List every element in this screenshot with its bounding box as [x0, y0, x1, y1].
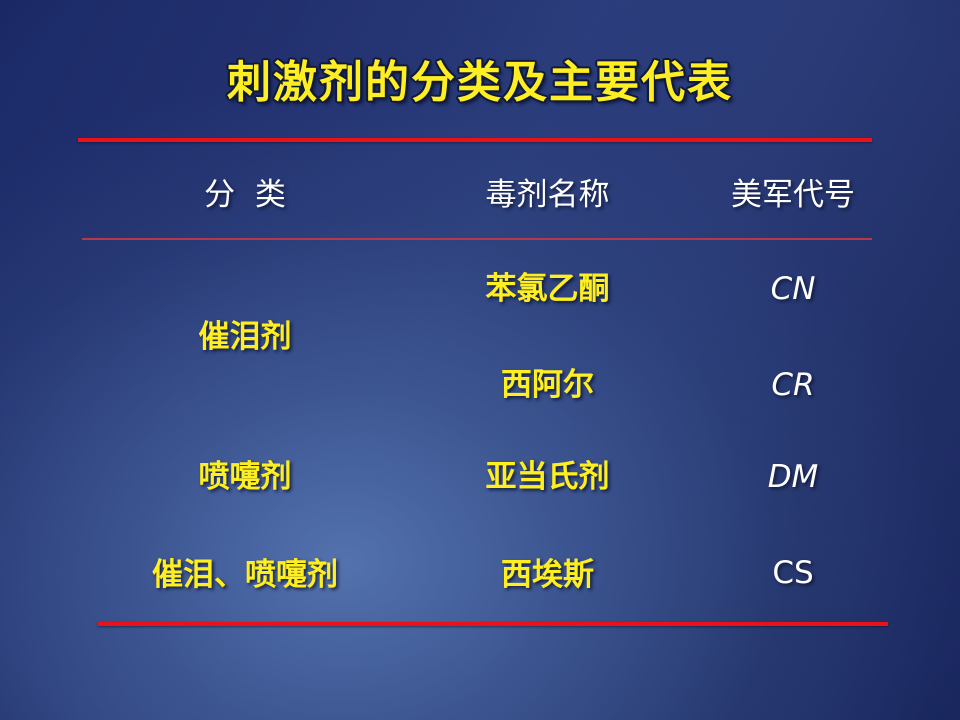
table-cell-agent: 西埃斯 [430, 560, 665, 591]
table-row: 催泪剂 [110, 322, 380, 353]
table-cell-agent: 西阿尔 [430, 370, 665, 401]
slide-canvas: 刺激剂的分类及主要代表 分 类 毒剂名称 美军代号 催泪剂 苯氯乙酮 CN 西阿… [0, 0, 960, 720]
table-cell-agent: 苯氯乙酮 [430, 274, 665, 305]
table-cell-code: CN [718, 274, 868, 305]
table-cell-agent: 亚当氏剂 [430, 462, 665, 493]
table-cell-code: CR [718, 370, 868, 401]
table-row: 喷嚏剂 [110, 462, 380, 493]
table-row: 催泪、喷嚏剂 [110, 560, 380, 591]
table-cell-code: DM [718, 462, 868, 493]
table-cell-code: CS [718, 558, 868, 589]
table-header-category: 分 类 [110, 180, 380, 211]
table-header-agent-name: 毒剂名称 [430, 180, 665, 211]
table-header-us-military-code: 美军代号 [718, 180, 868, 211]
page-title: 刺激剂的分类及主要代表 [0, 46, 960, 110]
